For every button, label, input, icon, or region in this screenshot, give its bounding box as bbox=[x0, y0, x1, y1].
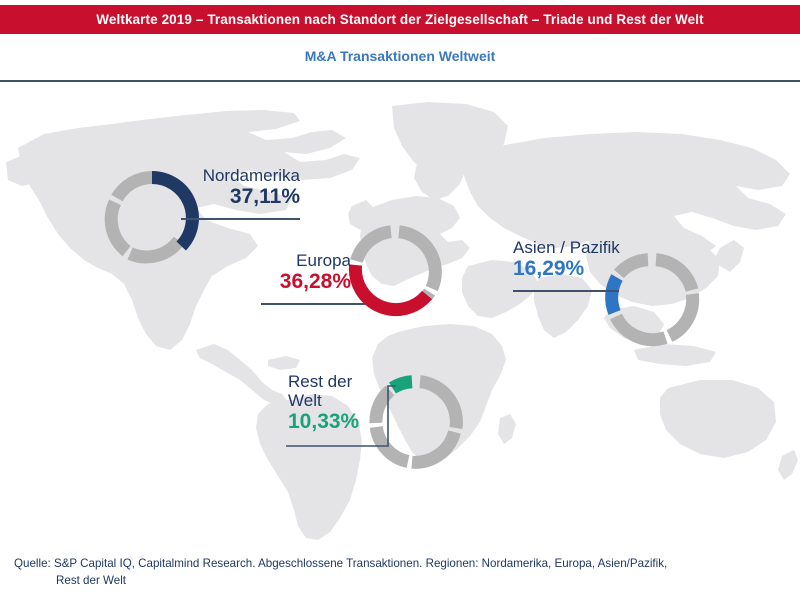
landmass-central-america bbox=[196, 344, 288, 406]
donut-track-segment bbox=[130, 241, 179, 257]
leader-line-nordamerika bbox=[181, 218, 300, 220]
leader-line-asien-pazifik bbox=[513, 290, 619, 292]
title-banner: Weltkarte 2019 – Transaktionen nach Stan… bbox=[0, 5, 800, 34]
landmass-india bbox=[534, 274, 592, 338]
donut-track-segment bbox=[412, 432, 455, 462]
donut-europa bbox=[347, 224, 443, 320]
label-europa-region: Europa bbox=[236, 251, 351, 270]
donut-track-segment bbox=[117, 178, 152, 199]
leader-line-rest-der-welt bbox=[286, 384, 396, 449]
landmass-scandinavia bbox=[414, 150, 466, 200]
source-note-line1: Quelle: S&P Capital IQ, Capitalmind Rese… bbox=[14, 556, 794, 573]
landmass-australia bbox=[660, 380, 776, 458]
landmass-new-zealand bbox=[778, 450, 798, 480]
label-asien-pazifik: Asien / Pazifik 16,29% bbox=[513, 238, 683, 281]
donut-track-segment bbox=[616, 317, 666, 340]
donut-value-arc bbox=[355, 265, 427, 310]
donut-track-segment bbox=[399, 232, 435, 289]
donut-track-segment bbox=[111, 202, 126, 251]
slide-canvas: Weltkarte 2019 – Transaktionen nach Stan… bbox=[0, 0, 800, 600]
label-europa: Europa 36,28% bbox=[236, 251, 351, 294]
landmass-madagascar bbox=[498, 414, 516, 444]
donut-track-segment bbox=[670, 294, 693, 336]
donut-track-segment bbox=[357, 232, 392, 261]
source-note: Quelle: S&P Capital IQ, Capitalmind Rese… bbox=[14, 556, 794, 590]
header-divider bbox=[0, 80, 800, 82]
source-note-line2: Rest der Welt bbox=[56, 573, 794, 590]
label-nordamerika-value: 37,11% bbox=[150, 185, 300, 209]
label-asien-pazifik-region: Asien / Pazifik bbox=[513, 238, 683, 257]
landmass-caribbean bbox=[268, 356, 300, 370]
donut-europa-svg bbox=[347, 224, 443, 320]
donut-value-arc bbox=[612, 278, 617, 313]
landmass-japan bbox=[716, 240, 744, 272]
label-nordamerika: Nordamerika 37,11% bbox=[150, 166, 300, 209]
page-title: Weltkarte 2019 – Transaktionen nach Stan… bbox=[96, 12, 703, 27]
leader-elbow-svg bbox=[286, 384, 396, 449]
label-nordamerika-region: Nordamerika bbox=[150, 166, 300, 185]
label-europa-value: 36,28% bbox=[236, 270, 351, 294]
chart-subtitle: M&A Transaktionen Weltweit bbox=[0, 48, 800, 64]
donut-track-segment bbox=[420, 382, 456, 428]
leader-line-europa bbox=[261, 303, 365, 305]
label-asien-pazifik-value: 16,29% bbox=[513, 257, 683, 281]
